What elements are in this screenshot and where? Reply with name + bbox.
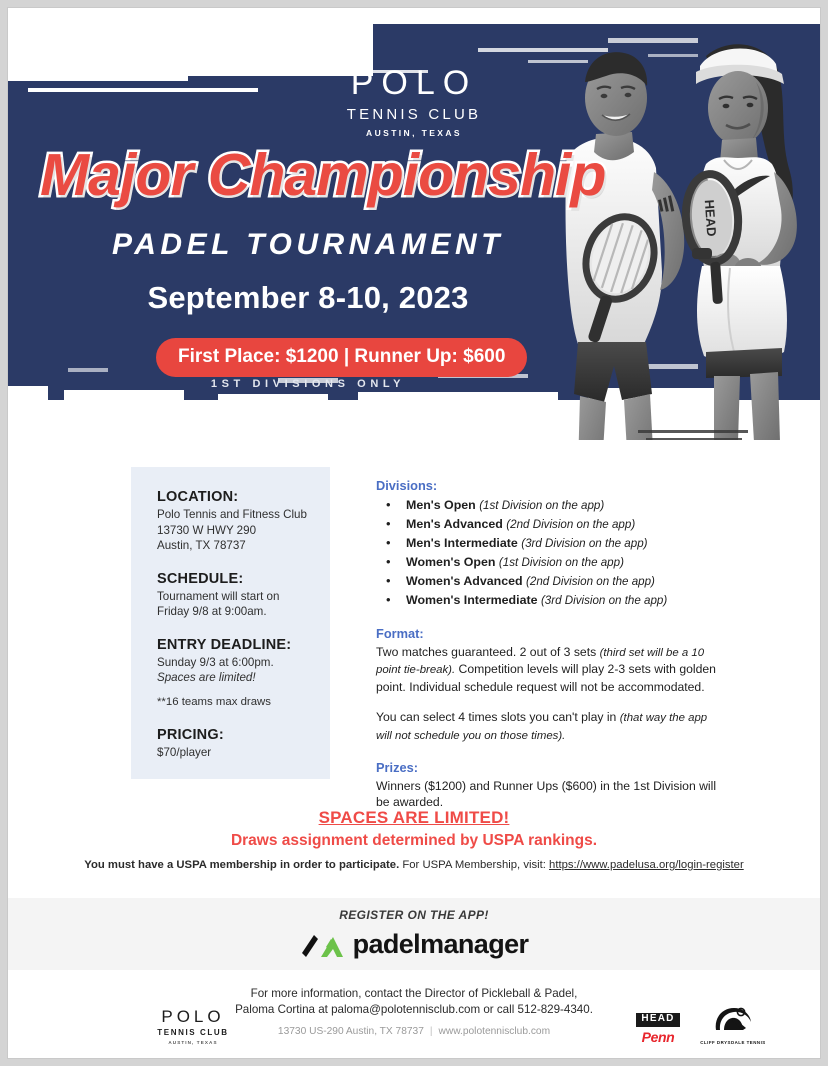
schedule-line-1: Tournament will start on — [157, 589, 310, 605]
format-p2-a: You can select 4 times slots you can't p… — [376, 710, 620, 724]
uspa-membership-note: You must have a USPA membership in order… — [8, 859, 820, 871]
footer-separator: | — [430, 1026, 433, 1037]
division-name: Men's Advanced — [406, 517, 503, 531]
draws-assignment-note: Draws assignment determined by USPA rank… — [8, 832, 820, 850]
divisions-only-note: 1ST DIVISIONS ONLY — [8, 378, 608, 390]
brush-edge — [158, 30, 298, 36]
footer-address-line: 13730 US-290 Austin, TX 78737|www.polote… — [214, 1026, 614, 1037]
head-logo-text: HEAD — [636, 1013, 679, 1027]
cliff-drysdale-name: CLIFF DRYSDALE TENNIS — [696, 1040, 770, 1045]
cliff-drysdale-sponsor-logo: CLIFF DRYSDALE TENNIS — [696, 1006, 770, 1045]
divisions-list: Men's Open (1st Division on the app) Men… — [376, 496, 726, 610]
schedule-heading: SCHEDULE: — [157, 571, 310, 587]
location-line-2: 13730 W HWY 290 — [157, 523, 310, 539]
brush-edge — [64, 390, 184, 402]
division-note: (3rd Division on the app) — [541, 594, 667, 607]
list-item: Women's Open (1st Division on the app) — [376, 553, 726, 572]
list-item: Women's Advanced (2nd Division on the ap… — [376, 572, 726, 591]
penn-logo-text: Penn — [628, 1029, 688, 1045]
contact-line-2: Paloma Cortina at paloma@polotennisclub.… — [214, 1002, 614, 1018]
brush-edge — [358, 392, 558, 402]
location-line-1: Polo Tennis and Fitness Club — [157, 507, 310, 523]
hero-banner: HEAD POLO TENNIS CLUB — [8, 8, 820, 440]
division-note: (1st Division on the app) — [479, 499, 604, 512]
spaces-limited-note: Spaces are limited! — [157, 670, 310, 686]
register-on-app-label: REGISTER ON THE APP! — [8, 908, 820, 922]
event-details-box: LOCATION: Polo Tennis and Fitness Club 1… — [131, 467, 330, 779]
padelmanager-mark-icon — [300, 931, 344, 959]
pricing-value: $70/player — [157, 745, 310, 761]
details-column: Divisions: Men's Open (1st Division on t… — [376, 478, 726, 811]
event-subhead: PADEL TOURNAMENT — [8, 228, 608, 262]
division-name: Women's Intermediate — [406, 593, 537, 607]
format-paragraph-2: You can select 4 times slots you can't p… — [376, 709, 726, 744]
division-name: Women's Open — [406, 555, 495, 569]
logo-main-text: POLO — [8, 66, 820, 100]
division-note: (3rd Division on the app) — [521, 537, 647, 550]
svg-text:HEAD: HEAD — [702, 199, 720, 237]
padelmanager-logo[interactable]: padelmanager — [8, 929, 820, 960]
division-note: (2nd Division on the app) — [506, 518, 635, 531]
uspa-rest-text: For USPA Membership, visit: — [399, 859, 549, 871]
contact-line-1: For more information, contact the Direct… — [214, 986, 614, 1002]
cliff-drysdale-mark-icon — [712, 1006, 754, 1034]
prize-badge: First Place: $1200 | Runner Up: $600 — [156, 338, 527, 377]
divisions-heading: Divisions: — [376, 478, 726, 493]
prizes-heading: Prizes: — [376, 760, 726, 775]
uspa-bold-text: You must have a USPA membership in order… — [84, 859, 399, 871]
flyer-page: HEAD POLO TENNIS CLUB — [8, 8, 820, 1058]
division-name: Women's Advanced — [406, 574, 523, 588]
polo-tennis-club-logo: POLO TENNIS CLUB AUSTIN, TEXAS — [8, 66, 820, 138]
max-draws-note: **16 teams max draws — [157, 695, 310, 711]
schedule-line-2: Friday 9/8 at 9:00am. — [157, 604, 310, 620]
format-p1-a: Two matches guaranteed. 2 out of 3 sets — [376, 645, 600, 659]
event-headline: Major Championship — [40, 146, 605, 205]
event-dates: September 8-10, 2023 — [8, 280, 608, 316]
list-item: Women's Intermediate (3rd Division on th… — [376, 591, 726, 610]
logo-city-text: AUSTIN, TEXAS — [8, 128, 820, 138]
format-paragraph-1: Two matches guaranteed. 2 out of 3 sets … — [376, 644, 726, 695]
pricing-heading: PRICING: — [157, 727, 310, 743]
footer-address: 13730 US-290 Austin, TX 78737 — [278, 1026, 424, 1037]
location-line-3: Austin, TX 78737 — [157, 538, 310, 554]
division-note: (2nd Division on the app) — [526, 575, 655, 588]
format-heading: Format: — [376, 626, 726, 641]
list-item: Men's Intermediate (3rd Division on the … — [376, 534, 726, 553]
footer-contact-info: For more information, contact the Direct… — [214, 986, 614, 1017]
brush-edge — [218, 394, 328, 402]
uspa-membership-link[interactable]: https://www.padelusa.org/login-register — [549, 859, 744, 871]
location-heading: LOCATION: — [157, 489, 310, 505]
logo-sub-text: TENNIS CLUB — [8, 106, 820, 123]
entry-deadline-date: Sunday 9/3 at 6:00pm. — [157, 655, 310, 671]
list-item: Men's Open (1st Division on the app) — [376, 496, 726, 515]
footer-logo-city: AUSTIN, TEXAS — [143, 1040, 243, 1045]
brush-edge — [68, 368, 108, 372]
spaces-limited-callout: SPACES ARE LIMITED! — [8, 808, 820, 828]
division-name: Men's Intermediate — [406, 536, 518, 550]
division-note: (1st Division on the app) — [499, 556, 624, 569]
list-item: Men's Advanced (2nd Division on the app) — [376, 515, 726, 534]
footer-website[interactable]: www.polotennisclub.com — [439, 1026, 551, 1037]
prizes-text: Winners ($1200) and Runner Ups ($600) in… — [376, 778, 726, 811]
division-name: Men's Open — [406, 498, 476, 512]
entry-deadline-heading: ENTRY DEADLINE: — [157, 637, 310, 653]
padelmanager-wordmark: padelmanager — [353, 929, 529, 960]
head-penn-sponsor-logo: HEAD Penn — [628, 1008, 688, 1045]
